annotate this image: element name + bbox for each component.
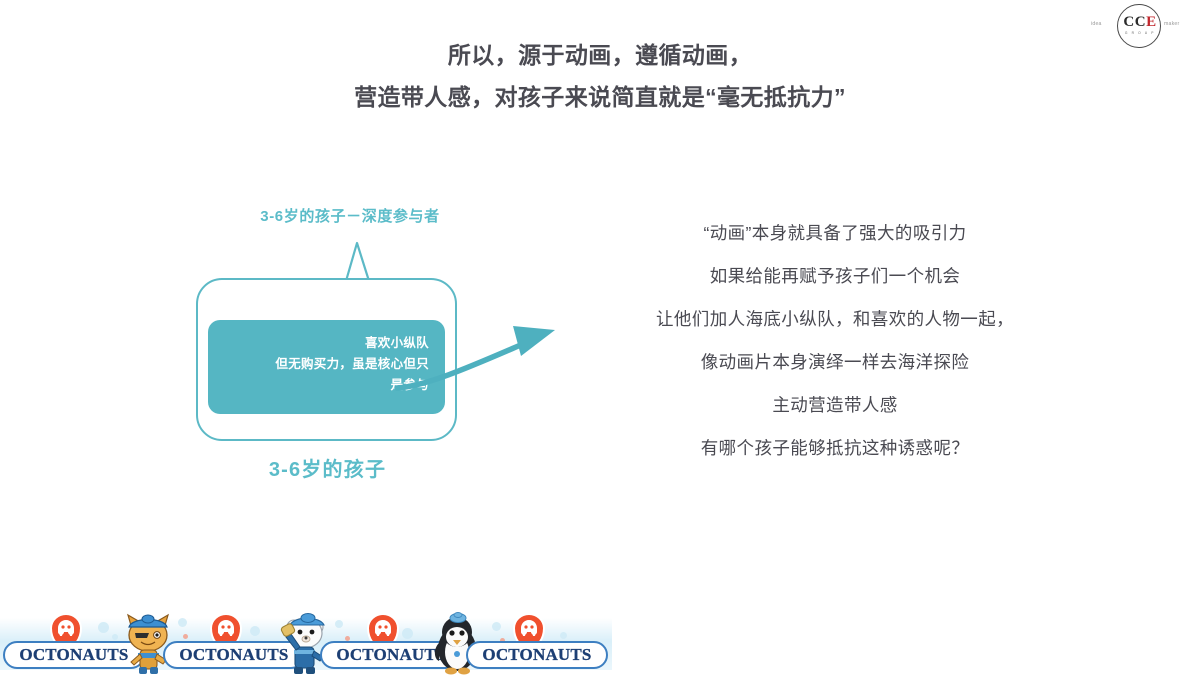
slide-title-line-2: 营造带人感，对孩子来说简直就是“毫无抵抗力” xyxy=(0,76,1200,118)
octonauts-logo: OCTONAUTS xyxy=(466,613,608,671)
narrative-block: “动画”本身就具备了强大的吸引力 如果给能再赋予孩子们一个机会 让他们加人海底小… xyxy=(620,212,1050,470)
octopus-icon xyxy=(216,619,236,641)
logo-cc-text: CC xyxy=(1123,14,1146,30)
persona-bottom-label: 3-6岁的孩子 xyxy=(195,453,460,482)
speech-bubble-tail xyxy=(328,240,386,282)
logo-wordmark: CCE xyxy=(1119,15,1161,30)
logo-right-word: maker xyxy=(1164,21,1179,27)
octonauts-wordmark: OCTONAUTS xyxy=(466,641,608,669)
slide-title-line-1: 所以，源于动画，遵循动画， xyxy=(0,34,1200,76)
narrative-line: 如果给能再赋予孩子们一个机会 xyxy=(620,255,1050,298)
logo-left-word: idea xyxy=(1091,21,1102,27)
octopus-icon xyxy=(56,619,76,641)
persona-diagram: 3-6岁的孩子－深度参与者 喜欢小纵队 但无购买力，虽是核心但只 是参与 3-6… xyxy=(185,195,605,505)
narrative-line: 主动营造带人感 xyxy=(620,384,1050,427)
persona-top-label: 3-6岁的孩子－深度参与者 xyxy=(215,205,485,226)
logo-e-accent: E xyxy=(1146,14,1157,30)
octopus-icon xyxy=(519,619,539,641)
flow-arrow-icon xyxy=(245,300,585,390)
narrative-line: 让他们加人海底小纵队，和喜欢的人物一起， xyxy=(620,298,1050,341)
slide-title: 所以，源于动画，遵循动画， 营造带人感，对孩子来说简直就是“毫无抵抗力” xyxy=(0,34,1200,118)
narrative-line: 有哪个孩子能够抵抗这种诱惑呢？ xyxy=(620,427,1050,470)
octonauts-banner: OCTONAUTS OCTONAUTS xyxy=(0,604,612,675)
octopus-icon xyxy=(373,619,393,641)
narrative-line: 像动画片本身演绎一样去海洋探险 xyxy=(620,341,1050,384)
narrative-line: “动画”本身就具备了强大的吸引力 xyxy=(620,212,1050,255)
